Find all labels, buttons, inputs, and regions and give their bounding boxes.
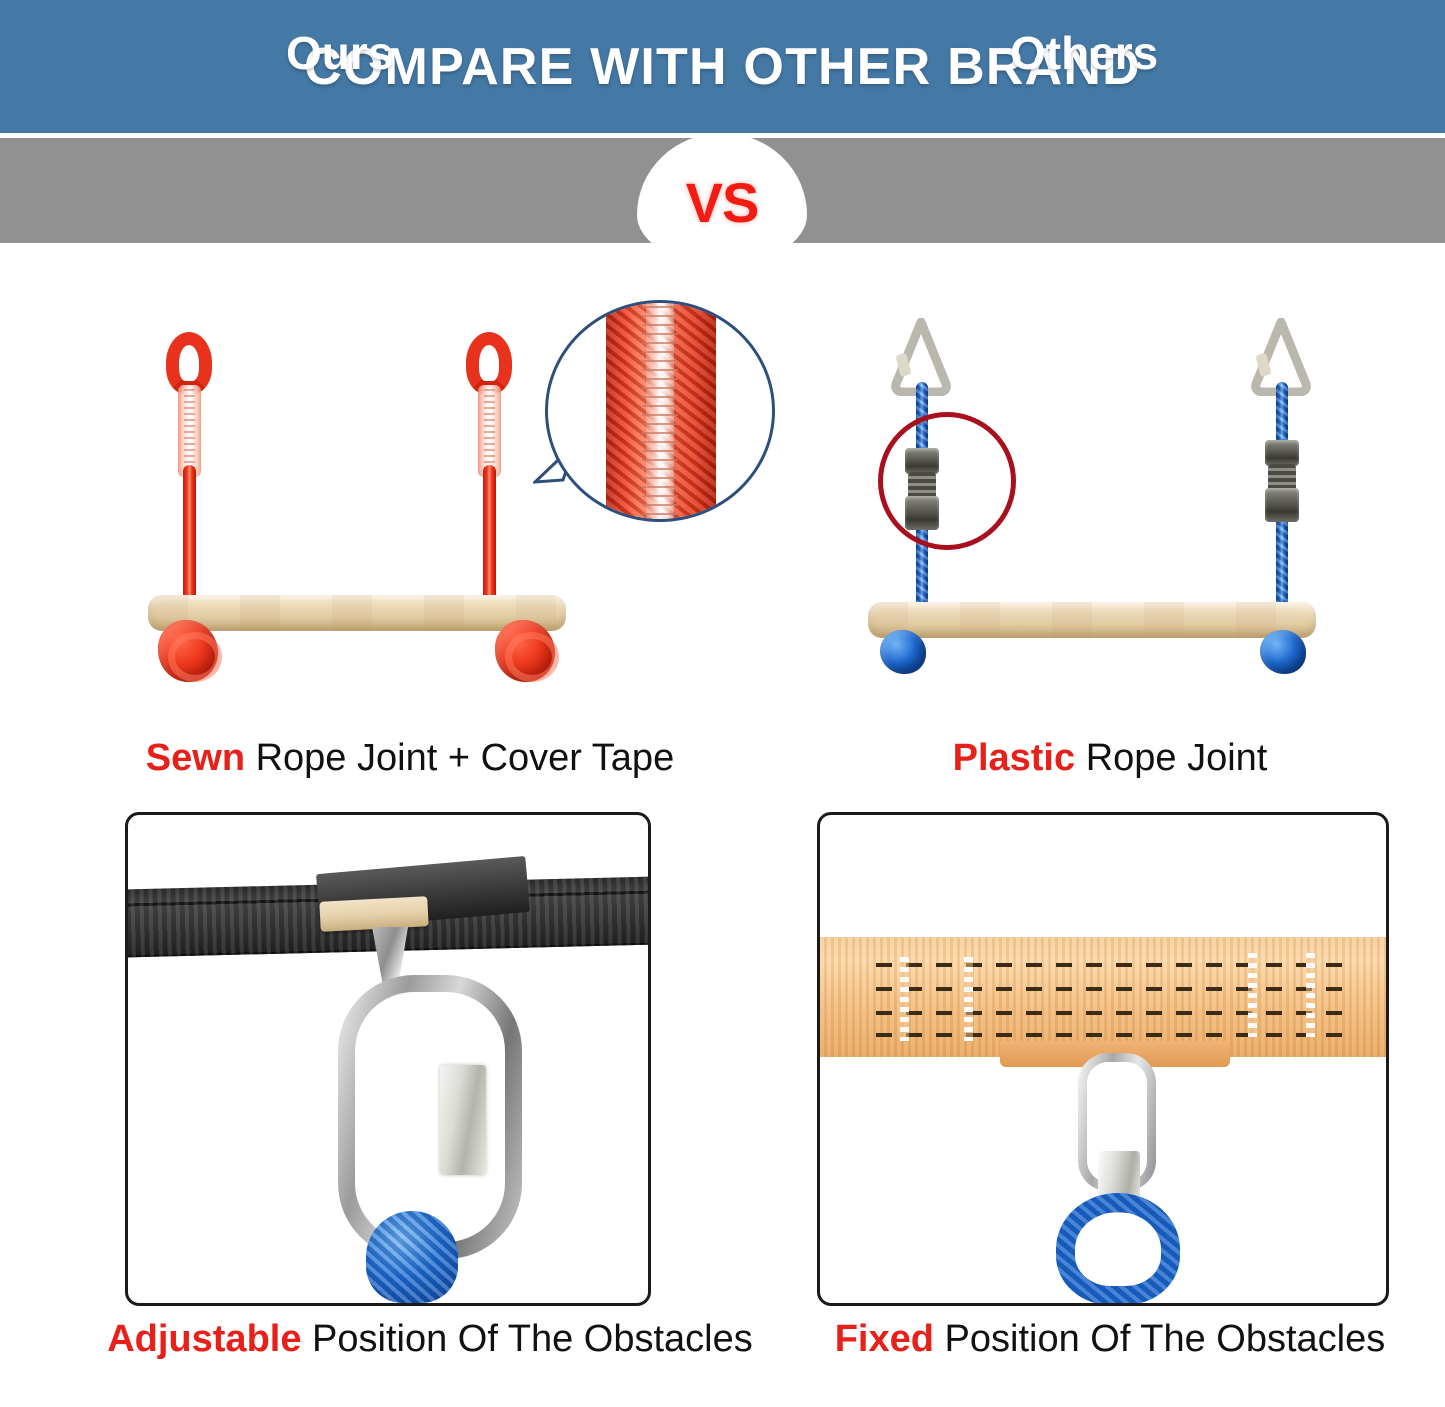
adjustable-wood-clip (319, 896, 428, 932)
rope-knot-left (158, 620, 218, 682)
callout-stitching-detail (646, 300, 674, 522)
rope-knot-blue-right (1260, 630, 1306, 674)
title-band: COMPARE WITH OTHER BRAND (0, 0, 1445, 133)
strap-stitch-row-2 (876, 987, 1346, 991)
strap-stitch-bar-right2 (1306, 953, 1315, 1037)
caption-highlight: Plastic (953, 737, 1076, 779)
strap-stitch-row-1 (876, 963, 1346, 967)
caption-rest: Rope Joint + Cover Tape (245, 737, 674, 779)
strap-stitch-row-4 (876, 1033, 1346, 1037)
rope-knot-blue-left (880, 630, 926, 674)
blue-rope-end-ours (366, 1211, 458, 1303)
caption-rest: Position Of The Obstacles (301, 1318, 752, 1360)
caption-ours-position: Adjustable Position Of The Obstacles (100, 1317, 760, 1362)
wooden-bar-ours (148, 595, 566, 631)
cover-tape-right (478, 385, 501, 477)
caption-highlight: Adjustable (107, 1318, 301, 1360)
sewn-joint-callout-bubble (545, 300, 775, 522)
strap-stitch-bar-left2 (964, 957, 973, 1041)
caption-others-position: Fixed Position Of The Obstacles (800, 1317, 1420, 1362)
rope-strand-right (483, 465, 496, 615)
cover-tape-left (178, 385, 201, 477)
wooden-bar-others (868, 602, 1316, 638)
plastic-joint-bottom-right (1265, 488, 1299, 522)
strap-stitch-row-3 (876, 1011, 1346, 1015)
plastic-joint-highlight-circle (878, 412, 1016, 550)
ours-photo-panel (125, 812, 651, 1306)
caption-rest: Position Of The Obstacles (934, 1318, 1385, 1360)
caption-rest: Rope Joint (1075, 737, 1267, 779)
column-label-others: Others (1010, 0, 1158, 105)
ours-product-illustration (110, 290, 790, 715)
blue-rope-end-others (1056, 1193, 1180, 1305)
caption-highlight: Fixed (835, 1318, 934, 1360)
strap-stitch-bar-left (900, 957, 909, 1041)
strap-stitch-bar-right (1248, 953, 1257, 1037)
vs-label: VS (686, 170, 759, 235)
caption-others-rope-joint: Plastic Rope Joint (800, 736, 1420, 781)
others-product-illustration (850, 290, 1350, 715)
plastic-joint-top-right (1265, 440, 1299, 466)
caption-highlight: Sewn (146, 737, 245, 779)
rope-knot-right (495, 620, 555, 682)
rope-strand-left (183, 465, 196, 615)
column-label-ours: Ours (286, 0, 393, 105)
quick-link-screw-nut (440, 1065, 486, 1175)
caption-ours-rope-joint: Sewn Rope Joint + Cover Tape (30, 736, 790, 781)
others-photo-panel (817, 812, 1389, 1306)
